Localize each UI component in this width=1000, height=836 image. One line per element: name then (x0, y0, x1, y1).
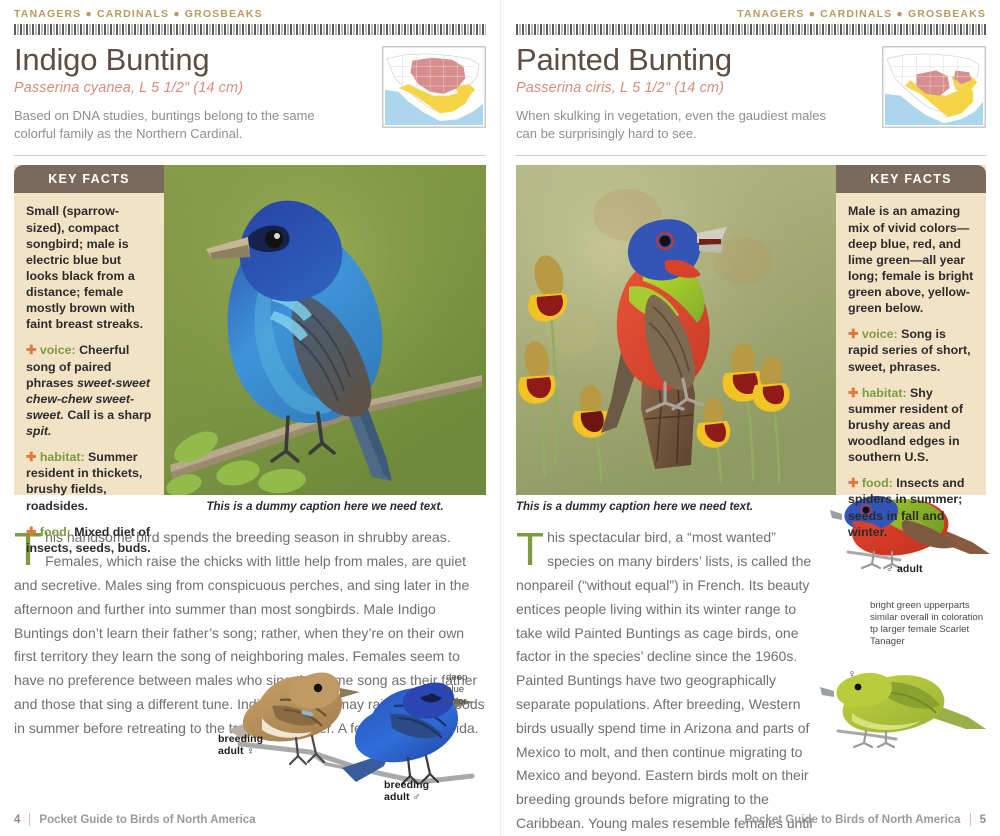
intro-blurb: When skulking in vegetation, even the ga… (516, 107, 834, 144)
key-facts-item-label: food: (40, 525, 71, 539)
photo-indigo-bunting (164, 165, 486, 495)
range-map-painted-bunting (882, 46, 986, 128)
title-block-right: Painted Bunting Passerina ciris, L 5 1/2… (516, 44, 986, 143)
page-number: 5 (980, 814, 986, 826)
feature-block-right: KEY FACTS Male is an amazing mix of vivi… (516, 165, 986, 495)
plus-icon: ✚ (848, 327, 858, 341)
label-male-adult: ♂ adult (886, 563, 923, 575)
key-facts-item-food: ✚ food: Mixed diet of insects, seeds, bu… (26, 524, 153, 556)
key-facts-item-voice: ✚ voice: Cheerful song of paired phrases… (26, 342, 153, 439)
footer-divider (970, 813, 971, 826)
drop-cap: T (516, 526, 547, 568)
page-right: TANAGERS ● CARDINALS ● GROSBEAKS Painted… (500, 0, 1000, 836)
divider-right (516, 155, 986, 156)
body-paragraph-right: This spectacular bird, a “most wanted” s… (516, 526, 816, 836)
section-kicker-left: TANAGERS ● CARDINALS ● GROSBEAKS (14, 0, 486, 20)
title-block-left: Indigo Bunting Passerina cyanea, L 5 1/2… (14, 44, 486, 143)
note-line-1: deep (446, 672, 467, 683)
key-facts-item-emphasis-2: spit. (26, 424, 51, 438)
key-facts-header: KEY FACTS (836, 165, 986, 193)
label-male-breeding-adult: breeding adult ♂ (384, 779, 429, 804)
page-left: TANAGERS ● CARDINALS ● GROSBEAKS Indigo … (0, 0, 500, 836)
label-line-2: adult ♀ (218, 745, 255, 757)
footer-right: Pocket Guide to Birds of North America 5 (500, 813, 1000, 826)
key-facts-item-label: voice: (862, 327, 898, 341)
note-line-2: similar overall in coloration (870, 612, 983, 623)
key-facts-panel-right: KEY FACTS Male is an amazing mix of vivi… (836, 165, 986, 495)
footer-title: Pocket Guide to Birds of North America (39, 814, 255, 826)
note-line-1: bright green upperparts (870, 600, 970, 611)
key-facts-item-habitat: ✚ habitat: Shy summer resident of brushy… (848, 385, 975, 466)
page-gutter (500, 0, 501, 836)
key-facts-item-habitat: ✚ habitat: Summer resident in thickets, … (26, 449, 153, 514)
plus-icon: ✚ (26, 450, 36, 464)
key-facts-item-food: ✚ food: Insects and spiders in summer; s… (848, 475, 975, 540)
body-paragraph-text: his spectacular bird, a “most wanted” sp… (516, 529, 813, 836)
divider-left (14, 155, 486, 156)
plus-icon: ✚ (26, 525, 36, 539)
feature-block-left: KEY FACTS Small (sparrow-sized), compact… (14, 165, 486, 495)
key-facts-item-label: habitat: (40, 450, 85, 464)
key-facts-item-label: voice: (40, 343, 76, 357)
photo-painted-bunting (516, 165, 836, 495)
note-line-3: color (446, 696, 467, 707)
key-facts-item-label: food: (862, 476, 893, 490)
plus-icon: ✚ (848, 476, 858, 490)
label-line-1: breeding (384, 779, 429, 791)
footer-left: 4 Pocket Guide to Birds of North America (0, 813, 500, 826)
key-facts-description: Male is an amazing mix of vivid colors—d… (848, 203, 975, 316)
label-female-breeding-adult: breeding adult ♀ (218, 733, 263, 758)
note-deep-blue-color: deep blue color (446, 672, 492, 708)
book-spread: TANAGERS ● CARDINALS ● GROSBEAKS Indigo … (0, 0, 1000, 836)
key-facts-header: KEY FACTS (14, 165, 164, 193)
label-line-2: adult ♂ (384, 791, 421, 803)
range-map-indigo-bunting (382, 46, 486, 128)
footer-divider (29, 813, 30, 826)
note-line-4: Tanager (870, 636, 905, 647)
key-facts-panel-left: KEY FACTS Small (sparrow-sized), compact… (14, 165, 164, 495)
plus-icon: ✚ (26, 343, 36, 357)
key-facts-item-text-after: Call is a sharp (64, 408, 151, 422)
key-facts-description: Small (sparrow-sized), compact songbird;… (26, 203, 153, 332)
intro-blurb: Based on DNA studies, buntings belong to… (14, 107, 334, 144)
plus-icon: ✚ (848, 386, 858, 400)
label-line-1: breeding (218, 733, 263, 745)
note-line-3: tp larger female Scarlet (870, 624, 969, 635)
tick-rule-right (516, 24, 986, 35)
page-number: 4 (14, 814, 20, 826)
note-line-2: blue (446, 684, 464, 695)
key-facts-item-voice: ✚ voice: Song is rapid series of short, … (848, 326, 975, 374)
key-facts-item-label: habitat: (862, 386, 907, 400)
section-kicker-right: TANAGERS ● CARDINALS ● GROSBEAKS (516, 0, 986, 20)
footer-title: Pocket Guide to Birds of North America (744, 814, 960, 826)
note-female-coloration: bright green upperparts similar overall … (870, 600, 990, 648)
tick-rule-left (14, 24, 486, 35)
label-female-symbol: ♀ (848, 668, 856, 681)
